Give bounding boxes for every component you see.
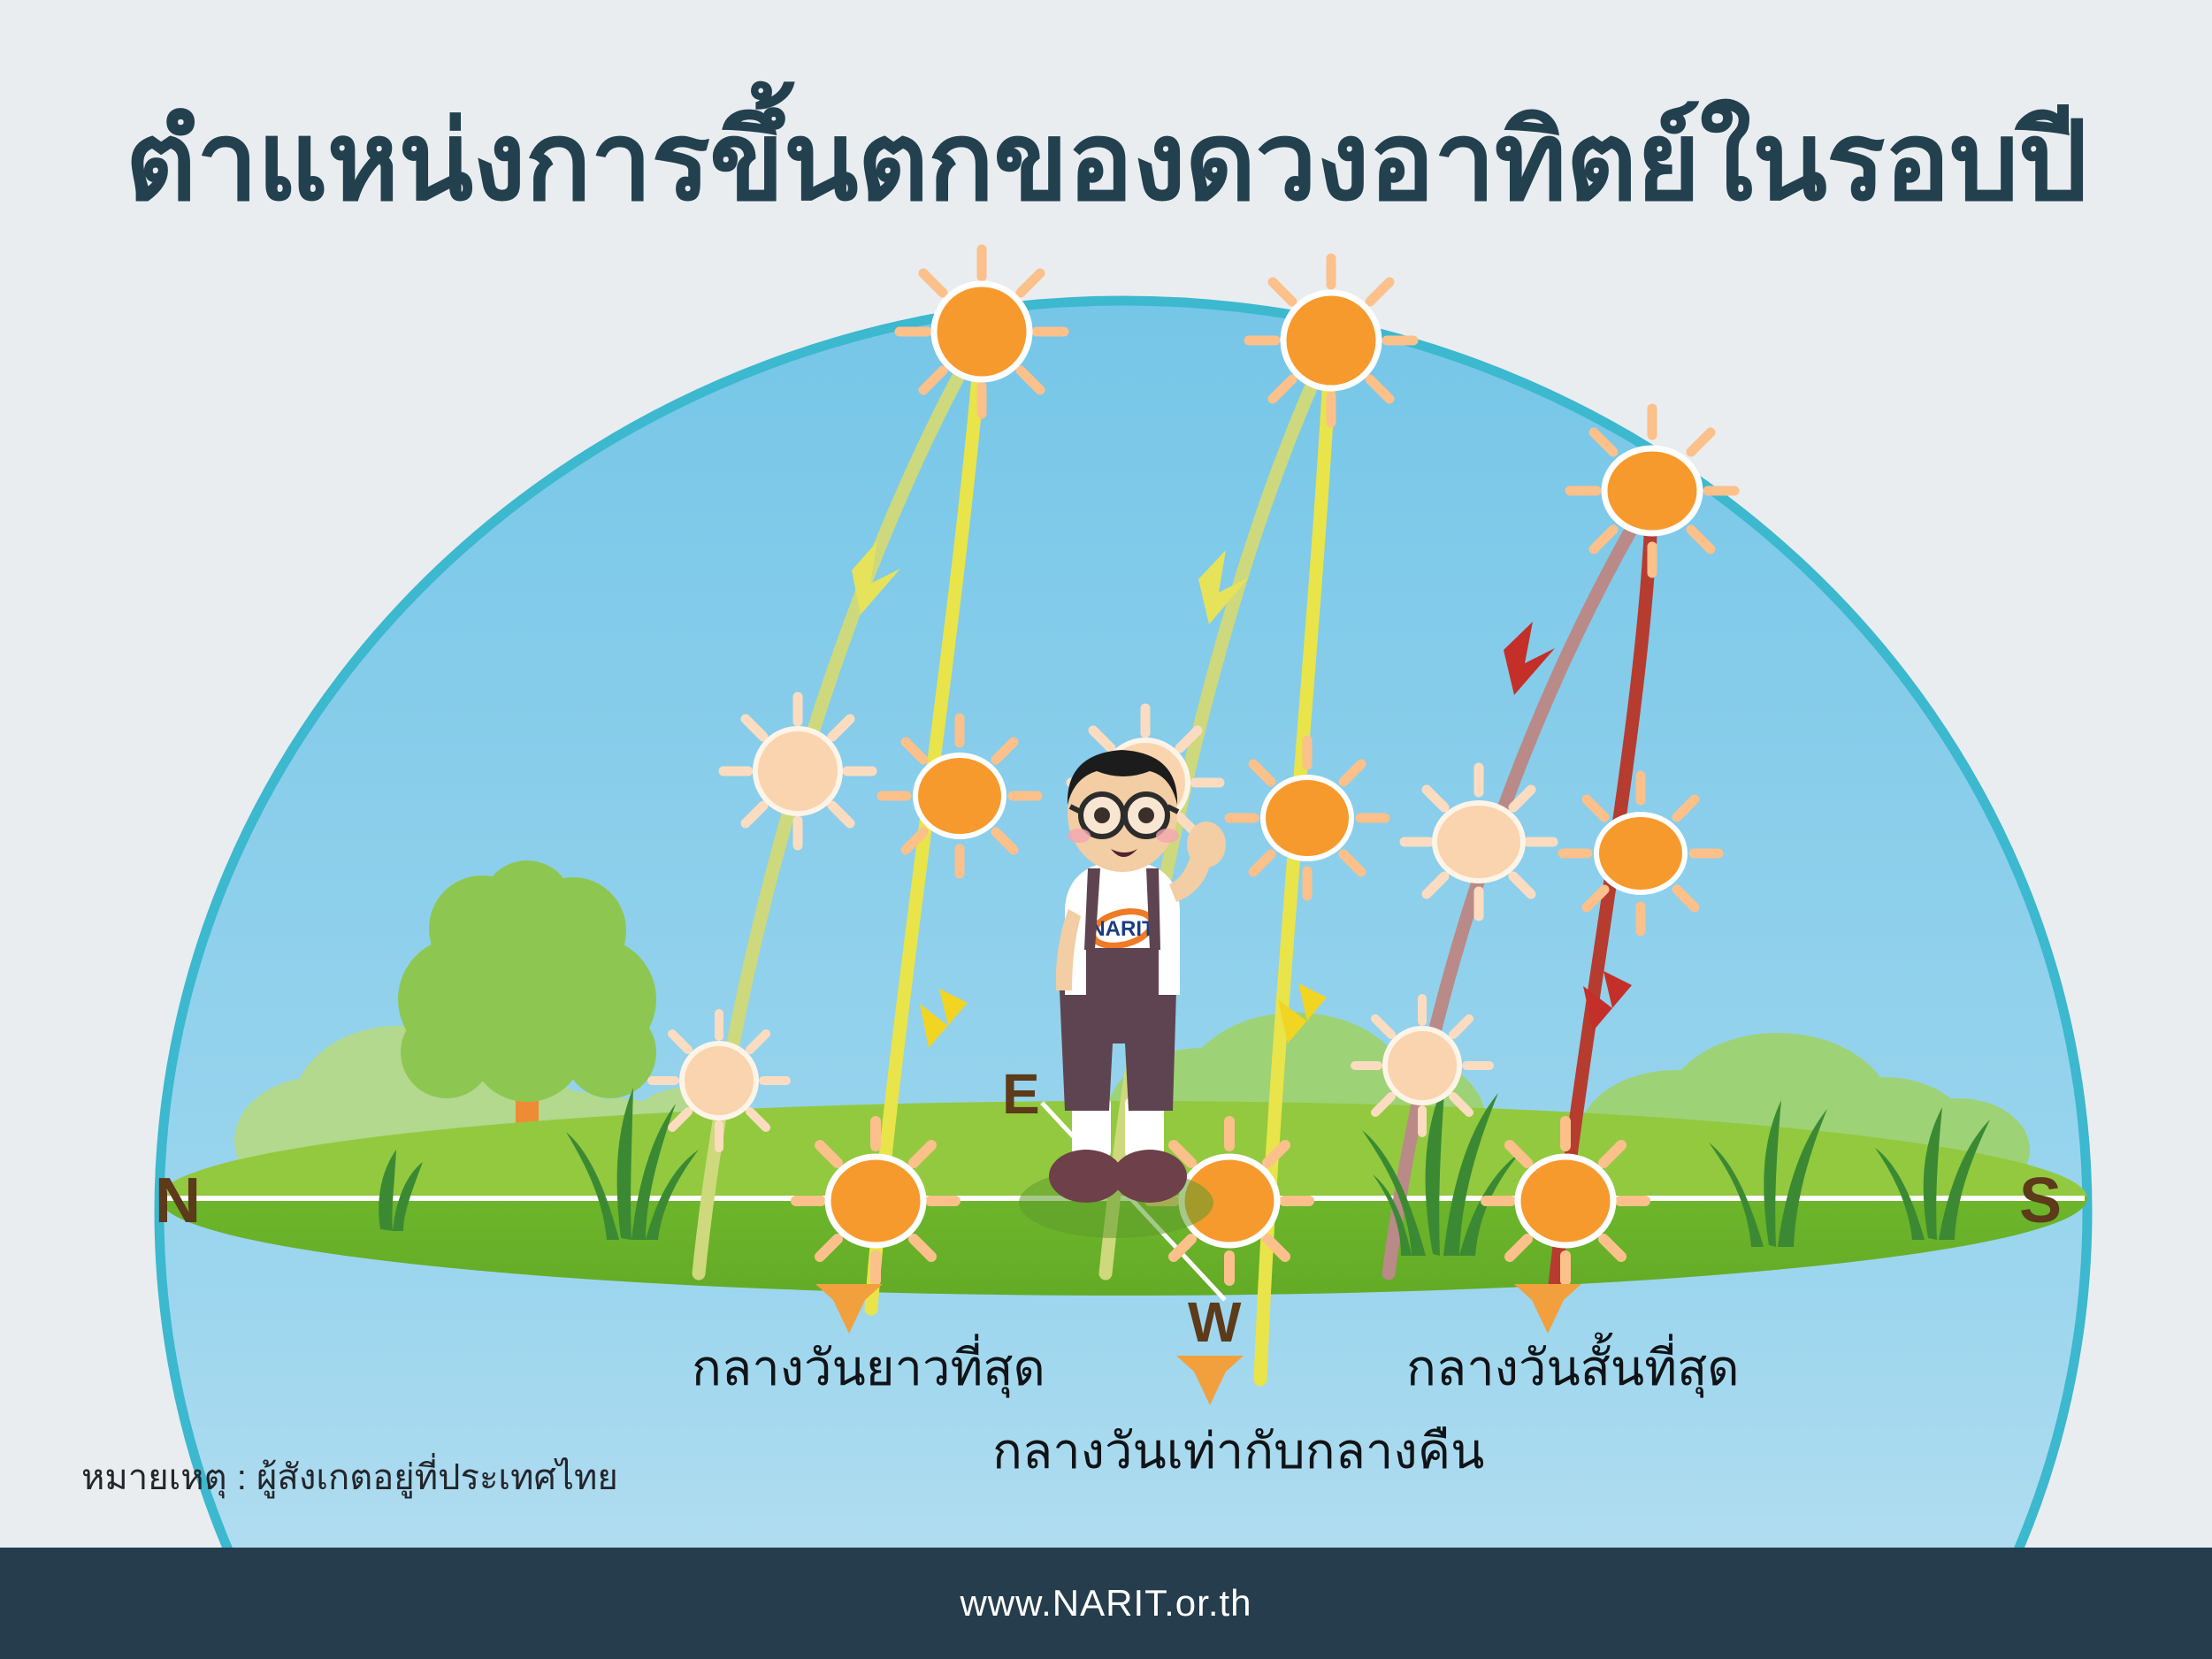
caption-shortest-day: กลางวันสั้นที่สุด xyxy=(1406,1337,1740,1399)
infographic-root: ตำแหน่งการขึ้นตกของดวงอาทิตย์ในรอบปี xyxy=(0,0,2212,1659)
overalls-bib xyxy=(1086,948,1159,996)
sun-equal-set-mid xyxy=(1229,740,1385,896)
sun-longest-rise-low xyxy=(652,1013,786,1148)
sun-longest-peak xyxy=(899,249,1064,414)
footer-bar: www.NARIT.or.th xyxy=(0,1548,2212,1659)
sun-longest-horizon xyxy=(796,1121,955,1281)
footnote-text: หมายเหตุ : ผู้สังเกตอยู่ที่ประเทศไทย xyxy=(81,1449,618,1505)
caption-longest-day: กลางวันยาวที่สุด xyxy=(692,1337,1045,1399)
compass-label-west: W xyxy=(1188,1294,1241,1350)
sun-equal-peak xyxy=(1249,258,1413,423)
sun-shortest-set-mid xyxy=(1563,776,1718,931)
blush-left xyxy=(1068,829,1091,843)
hand-waving xyxy=(1187,822,1226,868)
sun-longest-rise-mid xyxy=(723,697,872,845)
sun-longest-set-mid xyxy=(882,718,1037,874)
eye-left xyxy=(1094,807,1110,823)
sun-shortest-rise-low xyxy=(1355,998,1489,1133)
sun-path-illustration: NARIT xyxy=(0,0,2212,1659)
shoe-left xyxy=(1049,1150,1123,1203)
compass-label-north: N xyxy=(155,1169,201,1233)
sun-shortest-rise-mid xyxy=(1405,768,1553,916)
footer-url-text: www.NARIT.or.th xyxy=(960,1582,1251,1625)
shoe-right xyxy=(1113,1150,1187,1203)
compass-label-east: E xyxy=(1002,1066,1040,1122)
caption-equal-day: กลางวันเท่ากับกลางคืน xyxy=(992,1420,1484,1482)
sun-shortest-horizon xyxy=(1486,1121,1645,1281)
narit-logo-text: NARIT xyxy=(1090,917,1155,941)
compass-label-south: S xyxy=(2019,1169,2062,1233)
eye-right xyxy=(1138,807,1154,823)
blush-right xyxy=(1156,829,1179,843)
sun-shortest-peak xyxy=(1570,409,1734,573)
